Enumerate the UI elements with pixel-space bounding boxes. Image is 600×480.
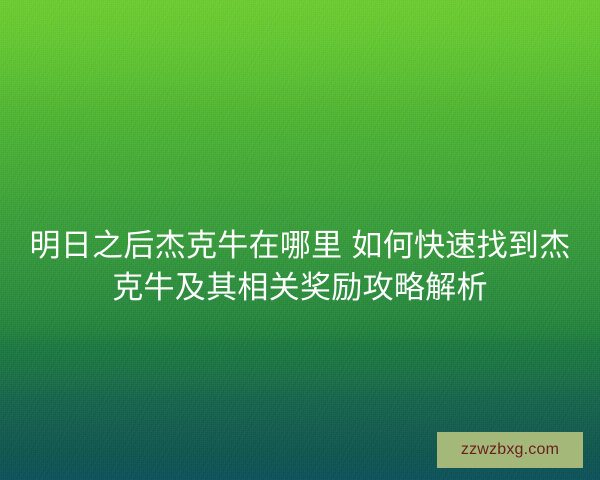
watermark-domain-label: zzwzbxg.com <box>461 442 559 458</box>
watermark-badge: zzwzbxg.com <box>437 432 583 468</box>
banner-headline: 明日之后杰克牛在哪里 如何快速找到杰克牛及其相关奖励攻略解析 <box>0 225 600 309</box>
article-banner-image: 明日之后杰克牛在哪里 如何快速找到杰克牛及其相关奖励攻略解析 zzwzbxg.c… <box>0 0 600 480</box>
